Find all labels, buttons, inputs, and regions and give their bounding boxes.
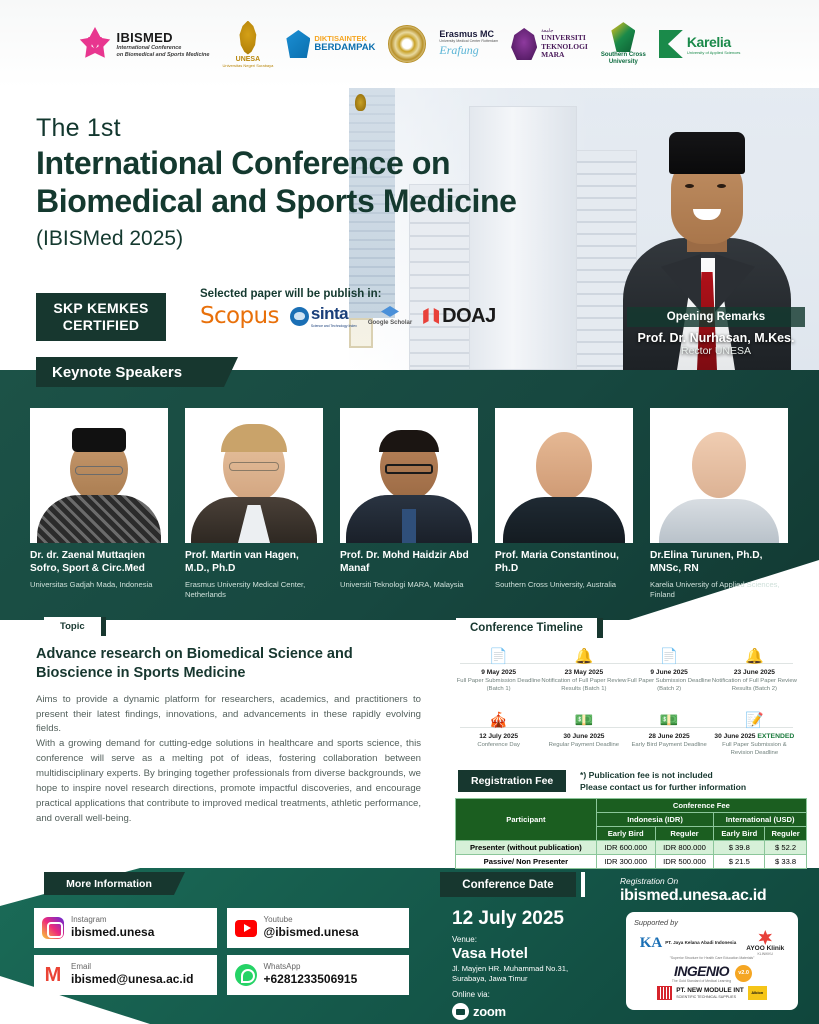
speaker-card: Dr.Elina Turunen, Ph.D, MNSc, RN Karelia…: [650, 408, 788, 600]
karelia-caption: University of Applied Sciences: [687, 50, 741, 55]
title-line-2: Biomedical and Sports Medicine: [36, 183, 517, 219]
supported-by-label: Supported by: [634, 918, 790, 927]
topic-section: Advance research on Biomedical Science a…: [36, 645, 421, 827]
timeline-date: 23 May 2025: [541, 669, 626, 676]
speaker-photo: [340, 408, 478, 543]
unesa-wordmark: UNESA: [222, 56, 273, 63]
google-scholar-wordmark: Google Scholar: [368, 320, 412, 326]
col-idr-early-bird: Early Bird: [596, 827, 655, 841]
timeline-description: Conference Day: [456, 742, 541, 750]
timeline-date: 30 June 2025 EXTENDED: [712, 733, 797, 740]
contact-youtube[interactable]: Youtube @ibismed.unesa: [227, 908, 410, 948]
berdampak-wordmark: BERDAMPAK: [314, 43, 375, 53]
speaker-torso: [659, 499, 779, 543]
rector-eye-right: [717, 184, 726, 188]
cell-participant: Presenter (without publication): [456, 841, 597, 855]
speaker-head: [536, 432, 592, 500]
registration-fee-table: Participant Conference Fee Indonesia (ID…: [455, 798, 807, 869]
new-module-wordmark: PT. NEW MODULE INT: [676, 987, 743, 994]
timeline-date-text: 30 June 2025: [714, 733, 755, 740]
contact-handle: ibismed.unesa: [71, 925, 154, 939]
speaker-photo: [495, 408, 633, 543]
indexer-logo-row: Scopus sinta Science and Technology Inde…: [200, 303, 496, 329]
cell-usd-early: $ 39.8: [714, 841, 765, 855]
table-row: Presenter (without publication) IDR 600.…: [456, 841, 807, 855]
logo-kemendikbud: [388, 25, 426, 63]
hero-eyebrow: The 1st: [36, 114, 517, 143]
timeline-description: Notification of Full Paper Review Result…: [712, 678, 797, 693]
ingenio-wordmark: INGENIO: [672, 963, 731, 979]
sponsor-jaya-kelana-abadi: KA PT. Jaya Kelana Abadi Indonesia: [640, 935, 737, 952]
topic-heading: Advance research on Biomedical Science a…: [36, 645, 421, 684]
sponsor-ingenio: INGENIO The Gold Standard of Medical Lea…: [672, 963, 731, 983]
sponsor-row-1: KA PT. Jaya Kelana Abadi Indonesia AYOO …: [634, 930, 790, 956]
conference-poster: IBISMED International Conferenceon Biome…: [0, 0, 819, 1024]
speaker-torso: [503, 497, 625, 543]
timeline-item: 📄 9 May 2025 Full Paper Submission Deadl…: [456, 649, 541, 693]
sponsor-ayoo-klinik: AYOO Klinik KLINIKKU: [746, 930, 784, 956]
timeline-item: 🔔 23 June 2025 Notification of Full Pape…: [712, 649, 797, 693]
logo-karelia: Karelia University of Applied Sciences: [659, 30, 741, 58]
contact-handle: +6281233506915: [264, 972, 358, 986]
ingenio-version-badge: v2.0: [735, 965, 752, 982]
speaker-card: Prof. Martin van Hagen, M.D., Ph.D Erasm…: [185, 408, 323, 600]
speaker-affiliation: Universitas Gadjah Mada, Indonesia: [30, 580, 168, 590]
col-usd-reguler: Reguler: [765, 827, 807, 841]
money-icon: 💵: [627, 713, 712, 728]
cell-idr-early: IDR 600.000: [596, 841, 655, 855]
google-scholar-icon: [381, 306, 399, 319]
conference-date-value: 12 July 2025: [452, 908, 602, 930]
speaker-glasses: [229, 462, 279, 471]
title-line-1: International Conference on: [36, 145, 450, 181]
sinta-icon: [290, 307, 309, 326]
sinta-logo: sinta Science and Technology Index: [290, 304, 357, 328]
speaker-photo: [185, 408, 323, 543]
zoom-platform: zoom: [452, 1003, 602, 1020]
timeline-date: 28 June 2025: [627, 733, 712, 740]
topic-paragraph-1: Aims to provide a dynamic platform for r…: [36, 693, 421, 738]
ayoo-klinik-wordmark: AYOO Klinik: [746, 945, 784, 952]
contact-platform: WhatsApp: [264, 963, 358, 972]
registration-url[interactable]: ibismed.unesa.ac.id: [620, 887, 805, 905]
speaker-name: Prof. Maria Constantinou, Ph.D: [495, 550, 633, 576]
speaker-affiliation: Southern Cross University, Australia: [495, 580, 633, 590]
timeline-item: 💵 28 June 2025 Early Bird Payment Deadli…: [627, 713, 712, 757]
karelia-wordmark: Karelia: [687, 34, 741, 50]
conference-timeline-tab: Conference Timeline: [456, 618, 597, 638]
instagram-icon: [42, 917, 64, 939]
fee-table-head: Participant Conference Fee Indonesia (ID…: [456, 799, 807, 841]
whatsapp-icon: [235, 964, 257, 986]
opening-remarks-block: Opening Remarks Prof. Dr. Nurhasan, M.Ke…: [627, 307, 805, 357]
doaj-icon: [423, 308, 439, 324]
contact-handle: ibismed@unesa.ac.id: [71, 972, 193, 986]
hero-text-block: The 1st International Conference on Biom…: [36, 114, 517, 251]
sinta-wordmark: sinta: [311, 304, 357, 324]
timeline-description: Full Paper Submission & Revision Deadlin…: [712, 742, 797, 757]
logo-uitm: جامعة UNIVERSITITEKNOLOGIMARA: [511, 28, 588, 60]
unesa-crest-icon: [233, 21, 263, 55]
jka-wordmark: PT. Jaya Kelana Abadi Indonesia: [665, 940, 736, 945]
partner-logo-bar: IBISMED International Conferenceon Biome…: [0, 0, 819, 88]
diktisaintek-icon: [286, 30, 310, 58]
timeline-description: Full Paper Submission Deadline (Batch 1): [456, 678, 541, 693]
speaker-cap: [72, 428, 126, 452]
fee-header-row-1: Participant Conference Fee: [456, 799, 807, 813]
karelia-icon: [659, 30, 683, 58]
logo-diktisaintek: DIKTISAINTEK BERDAMPAK: [286, 30, 375, 58]
rector-peci-cap: [669, 132, 745, 174]
gmail-icon: M: [45, 965, 62, 985]
speaker-affiliation: Erasmus University Medical Center, Nethe…: [185, 580, 323, 600]
new-module-icon: [657, 986, 672, 1000]
speaker-name: Prof. Martin van Hagen, M.D., Ph.D: [185, 550, 323, 576]
timeline-date: 9 May 2025: [456, 669, 541, 676]
registration-label: Registration On: [620, 876, 805, 886]
speaker-card: Prof. Dr. Mohd Haidzir Abd Manaf Univers…: [340, 408, 478, 600]
timeline-item: 🔔 23 May 2025 Notification of Full Paper…: [541, 649, 626, 693]
timeline-description: Regular Payment Deadline: [541, 742, 626, 750]
supported-by-card: Supported by KA PT. Jaya Kelana Abadi In…: [626, 912, 798, 1010]
timeline-description: Notification of Full Paper Review Result…: [541, 678, 626, 693]
scopus-logo: Scopus: [200, 303, 279, 329]
registration-on-block: Registration On ibismed.unesa.ac.id: [620, 876, 805, 905]
speaker-glasses: [75, 466, 123, 475]
conference-date-block: 12 July 2025 Venue: Vasa Hotel Jl. Mayje…: [452, 908, 602, 1020]
document-icon: 📄: [627, 649, 712, 664]
timeline-date: 9 June 2025: [627, 669, 712, 676]
ingenio-tagline: The Gold Standard of Medical Learning: [672, 979, 731, 983]
logo-erasmus-mc: Erasmus MC University Medical Center Rot…: [439, 30, 498, 58]
contact-whatsapp[interactable]: WhatsApp +6281233506915: [227, 955, 410, 995]
doaj-wordmark: DOAJ: [442, 305, 496, 328]
timeline-item: 🎪 12 July 2025 Conference Day: [456, 713, 541, 757]
logo-ibismed: IBISMED International Conferenceon Biome…: [79, 27, 210, 61]
google-scholar-logo: Google Scholar: [368, 306, 412, 326]
cell-idr-early: IDR 300.000: [596, 855, 655, 869]
venue-label: Venue:: [452, 935, 602, 944]
zoom-camera-icon: [452, 1003, 469, 1020]
hero-subtitle: (IBISMed 2025): [36, 227, 517, 251]
registration-fee-note: *) Publication fee is not included Pleas…: [580, 769, 746, 793]
timeline-row-1: 📄 9 May 2025 Full Paper Submission Deadl…: [456, 649, 797, 693]
doaj-logo: DOAJ: [423, 305, 496, 328]
speaker-name: Dr. dr. Zaenal Muttaqien Sofro, Sport & …: [30, 550, 168, 576]
timeline-date: 30 June 2025: [541, 733, 626, 740]
timeline-item: 📄 9 June 2025 Full Paper Submission Dead…: [627, 649, 712, 693]
speaker-torso: [37, 495, 161, 543]
speaker-affiliation: Universiti Teknologi MARA, Malaysia: [340, 580, 478, 590]
speaker-name: Prof. Dr. Mohd Haidzir Abd Manaf: [340, 550, 478, 576]
speakers-list: Dr. dr. Zaenal Muttaqien Sofro, Sport & …: [30, 408, 790, 600]
timeline-date: 12 July 2025: [456, 733, 541, 740]
timeline-item: 💵 30 June 2025 Regular Payment Deadline: [541, 713, 626, 757]
publish-label: Selected paper will be publish in:: [200, 288, 496, 300]
opening-remarks-badge: Opening Remarks: [627, 307, 805, 327]
fee-note-line-1: *) Publication fee is not included: [580, 769, 746, 781]
publication-indexers: Selected paper will be publish in: Scopu…: [200, 288, 496, 329]
erasmus-signature-icon: Erafung: [439, 43, 498, 58]
logo-unesa: UNESA Universitas Negeri Surabaya: [222, 21, 273, 68]
fee-table-body: Presenter (without publication) IDR 600.…: [456, 841, 807, 869]
notepad-icon: 📝: [712, 713, 797, 728]
unesa-caption: Universitas Negeri Surabaya: [222, 63, 273, 68]
timeline-row-2: 🎪 12 July 2025 Conference Day 💵 30 June …: [456, 713, 797, 757]
uitm-wordmark: UNIVERSITITEKNOLOGIMARA: [541, 34, 588, 60]
page-title: International Conference on Biomedical a…: [36, 145, 517, 221]
jka-icon: KA: [640, 935, 663, 952]
rector-eye-left: [685, 184, 694, 188]
bell-icon: 🔔: [541, 649, 626, 664]
cell-usd-reg: $ 33.8: [765, 855, 807, 869]
extended-badge: EXTENDED: [757, 733, 794, 740]
logo-southern-cross: Southern CrossUniversity: [601, 22, 646, 66]
kemendikbud-seal-icon: [388, 25, 426, 63]
cell-usd-early: $ 21.5: [714, 855, 765, 869]
timeline-date: 23 June 2025: [712, 669, 797, 676]
southern-cross-wordmark: Southern CrossUniversity: [601, 52, 646, 66]
skp-line-1: SKP KEMKES: [53, 300, 148, 318]
contact-platform: Youtube: [264, 916, 359, 925]
more-information-tab: More Information: [44, 872, 174, 895]
cell-idr-reg: IDR 800.000: [655, 841, 714, 855]
speaker-card: Dr. dr. Zaenal Muttaqien Sofro, Sport & …: [30, 408, 168, 600]
speaker-hair: [221, 424, 287, 452]
zoom-wordmark: zoom: [473, 1004, 506, 1019]
speaker-hair: [379, 430, 439, 452]
albion-icon: Albion: [748, 986, 767, 1000]
skp-line-2: CERTIFIED: [63, 317, 140, 335]
speaker-photo: [30, 408, 168, 543]
opening-remarks-role: Rector UNESA: [627, 345, 805, 357]
speaker-name: Dr.Elina Turunen, Ph.D, MNSc, RN: [650, 550, 788, 576]
conference-date-tab: Conference Date: [440, 872, 576, 897]
online-label: Online via:: [452, 990, 602, 999]
jka-tagline: "Superior Structure for Health Care Educ…: [634, 956, 790, 960]
bell-icon: 🔔: [712, 649, 797, 664]
topic-paragraph-2: With a growing demand for cutting-edge s…: [36, 737, 421, 827]
speaker-card: Prof. Maria Constantinou, Ph.D Southern …: [495, 408, 633, 600]
contact-platform: Instagram: [71, 916, 154, 925]
skp-kemkes-badge: SKP KEMKES CERTIFIED: [36, 293, 166, 341]
contact-email[interactable]: M Email ibismed@unesa.ac.id: [34, 955, 217, 995]
table-row: Passive/ Non Presenter IDR 300.000 IDR 5…: [456, 855, 807, 869]
ibismed-wordmark: IBISMED: [117, 30, 210, 45]
cell-participant: Passive/ Non Presenter: [456, 855, 597, 869]
col-participant: Participant: [456, 799, 597, 841]
keynote-speakers-tab: Keynote Speakers: [36, 357, 224, 387]
contact-instagram[interactable]: Instagram ibismed.unesa: [34, 908, 217, 948]
opening-remarks-name: Prof. Dr. Nurhasan, M.Kes.: [627, 331, 805, 345]
topic-tab: Topic: [44, 617, 101, 636]
sponsor-row-3: PT. NEW MODULE INT SCIENTIFIC TECHNICAL …: [634, 986, 790, 1000]
cell-idr-reg: IDR 500.000: [655, 855, 714, 869]
contact-handle: @ibismed.unesa: [264, 925, 359, 939]
contact-platform: Email: [71, 963, 193, 972]
youtube-icon: [235, 920, 257, 937]
speaker-head: [692, 432, 746, 498]
col-conference-fee: Conference Fee: [596, 799, 806, 813]
sinta-subtext: Science and Technology Index: [311, 324, 357, 328]
celebration-icon: 🎪: [456, 713, 541, 728]
money-icon: 💵: [541, 713, 626, 728]
timeline-description: Full Paper Submission Deadline (Batch 2): [627, 678, 712, 693]
new-module-tagline: SCIENTIFIC TECHNICAL SUPPLIES: [676, 995, 743, 999]
cell-usd-reg: $ 52.2: [765, 841, 807, 855]
contact-grid: Instagram ibismed.unesa Youtube @ibismed…: [34, 908, 409, 995]
speaker-affiliation: Karelia University of Applied Sciences, …: [650, 580, 788, 600]
timeline-item: 📝 30 June 2025 EXTENDED Full Paper Submi…: [712, 713, 797, 757]
timeline-card: 📄 9 May 2025 Full Paper Submission Deadl…: [448, 637, 805, 769]
col-idr-reguler: Reguler: [655, 827, 714, 841]
uitm-crest-icon: [511, 28, 537, 60]
col-indonesia: Indonesia (IDR): [596, 813, 714, 827]
fee-note-line-2: Please contact us for further informatio…: [580, 781, 746, 793]
document-icon: 📄: [456, 649, 541, 664]
venue-address: Jl. Mayjen HR. Muhammad No.31, Surabaya,…: [452, 964, 602, 985]
ayoo-klinik-icon: [758, 930, 773, 945]
sponsor-row-2: INGENIO The Gold Standard of Medical Lea…: [634, 963, 790, 983]
ibismed-star-icon: [79, 27, 113, 61]
registration-fee-tab: Registration Fee: [458, 770, 566, 792]
venue-name: Vasa Hotel: [452, 945, 602, 962]
timeline-description: Early Bird Payment Deadline: [627, 742, 712, 750]
speaker-glasses: [385, 464, 433, 474]
speaker-tie: [402, 509, 416, 543]
conference-date-accent-bar: [581, 872, 585, 897]
ibismed-caption: International Conferenceon Biomedical an…: [117, 45, 210, 59]
col-international: International (USD): [714, 813, 807, 827]
col-usd-early-bird: Early Bird: [714, 827, 765, 841]
speaker-photo: [650, 408, 788, 543]
erasmus-wordmark: Erasmus MC: [439, 30, 498, 39]
southern-cross-icon: [611, 22, 635, 52]
